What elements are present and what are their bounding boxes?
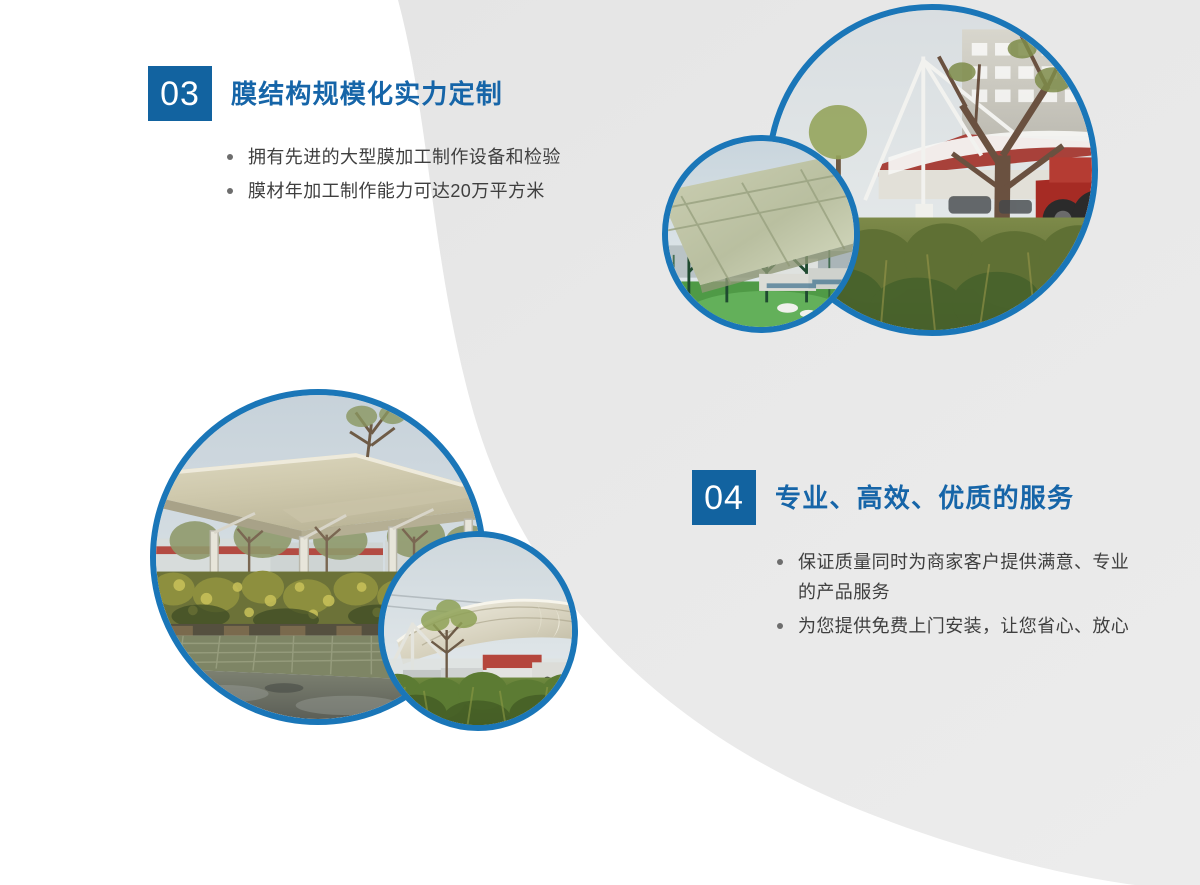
photo-top-small-image xyxy=(668,141,854,327)
list-item: 拥有先进的大型膜加工制作设备和检验 xyxy=(225,142,561,172)
section-03-title: 膜结构规模化实力定制 xyxy=(231,81,503,107)
section-03-bullet-list: 拥有先进的大型膜加工制作设备和检验 膜材年加工制作能力可达20万平方米 xyxy=(225,142,561,206)
section-03: 03 膜结构规模化实力定制 拥有先进的大型膜加工制作设备和检验 膜材年加工制作能… xyxy=(148,66,561,210)
photo-circle-top-small[interactable] xyxy=(662,135,860,333)
section-04-bullet-list: 保证质量同时为商家客户提供满意、专业的产品服务 为您提供免费上门安装，让您省心、… xyxy=(775,547,1130,641)
section-04-header: 04 专业、高效、优质的服务 xyxy=(692,470,1130,525)
list-item: 保证质量同时为商家客户提供满意、专业的产品服务 xyxy=(775,547,1130,607)
photo-circle-bottom-small[interactable] xyxy=(378,531,578,731)
section-04-title: 专业、高效、优质的服务 xyxy=(775,485,1074,511)
section-03-number-badge: 03 xyxy=(148,66,212,121)
section-04: 04 专业、高效、优质的服务 保证质量同时为商家客户提供满意、专业的产品服务 为… xyxy=(692,470,1130,645)
list-item: 膜材年加工制作能力可达20万平方米 xyxy=(225,176,561,206)
slide-canvas: 03 膜结构规模化实力定制 拥有先进的大型膜加工制作设备和检验 膜材年加工制作能… xyxy=(0,0,1200,885)
section-04-number-badge: 04 xyxy=(692,470,756,525)
section-03-header: 03 膜结构规模化实力定制 xyxy=(148,66,561,121)
list-item: 为您提供免费上门安装，让您省心、放心 xyxy=(775,611,1130,641)
photo-bottom-small-image xyxy=(384,537,572,725)
